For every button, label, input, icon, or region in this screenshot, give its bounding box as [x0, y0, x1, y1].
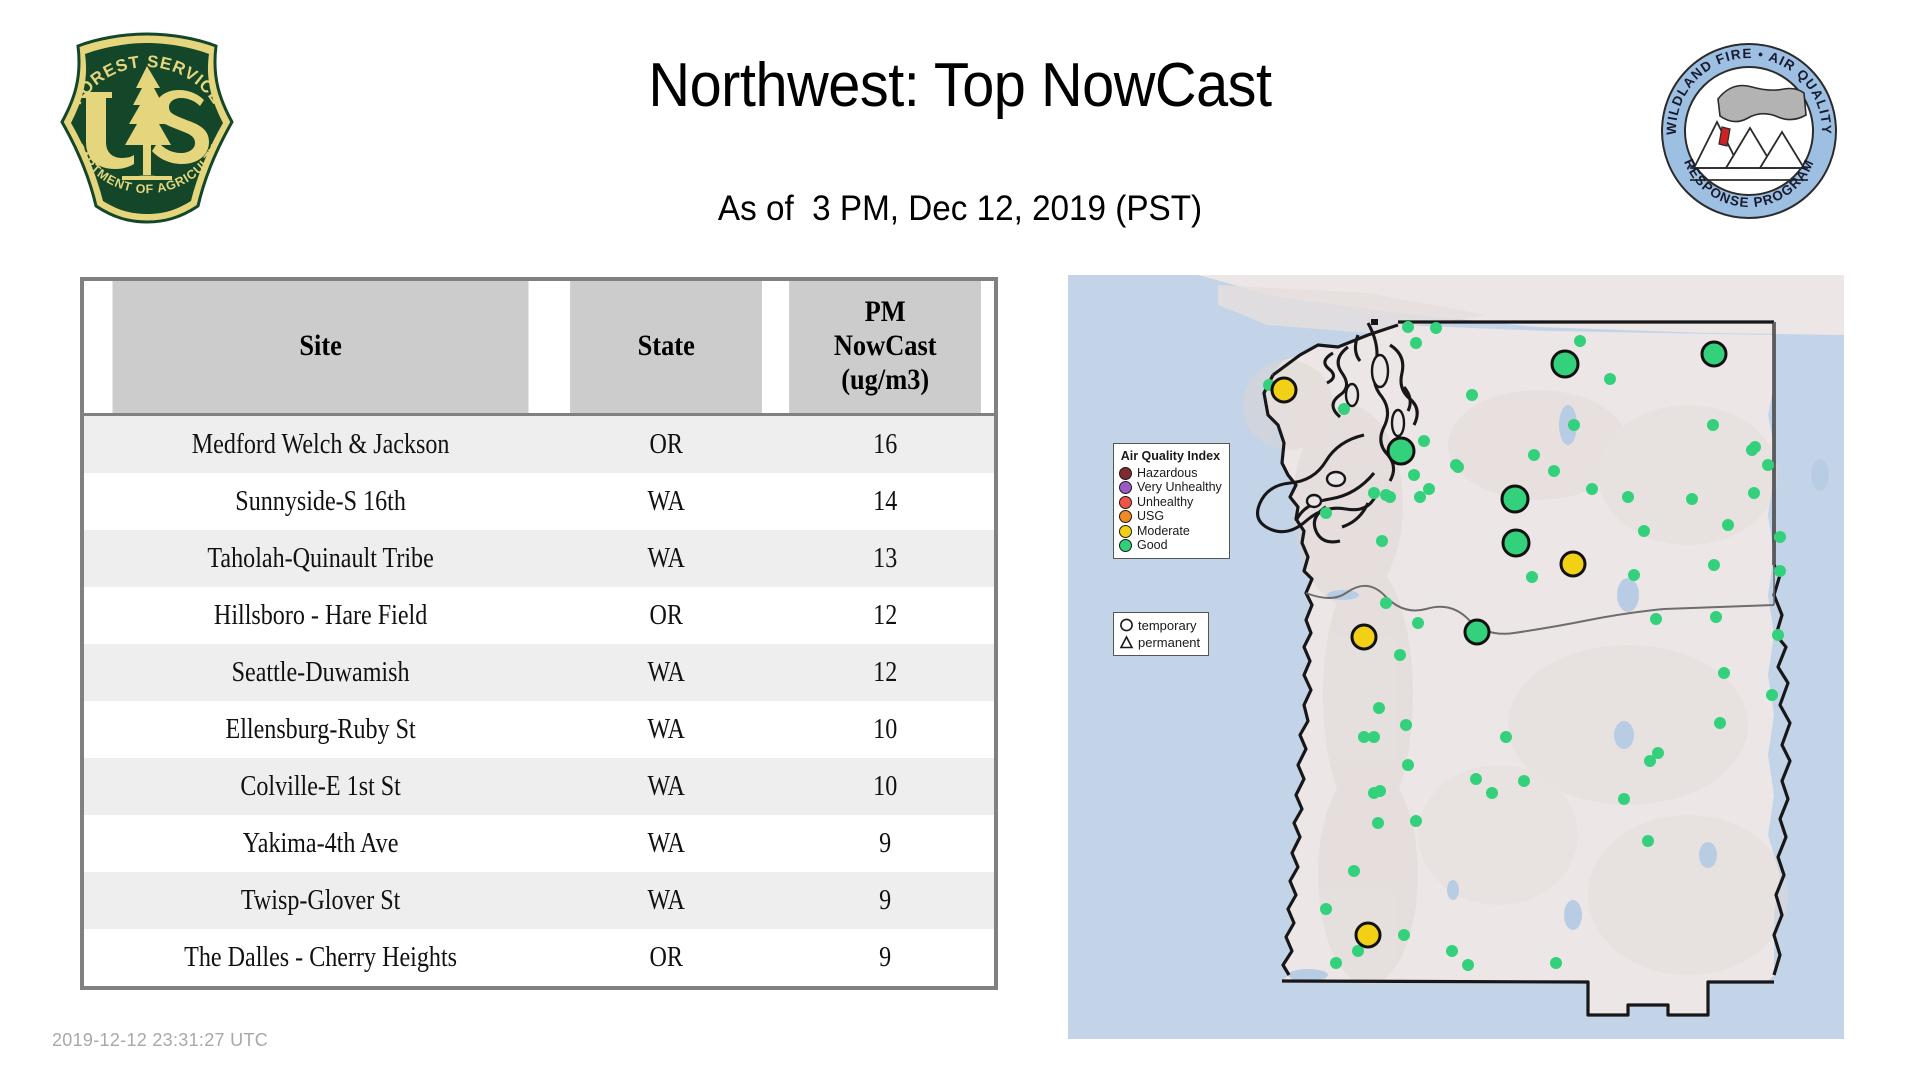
- aqi-color-swatch-icon: [1119, 496, 1132, 509]
- site-legend-row-permanent: permanent: [1118, 634, 1200, 651]
- site-marker-sunnyside-s-16th: [1561, 552, 1585, 576]
- site-legend-label-temporary: temporary: [1138, 619, 1197, 633]
- point-roberts: [1371, 319, 1378, 325]
- state-cell: WA: [572, 473, 760, 530]
- site-cell: Medford Welch & Jackson: [117, 415, 524, 474]
- pm-header-line1: PM: [789, 295, 981, 329]
- table-row[interactable]: The Dalles - Cherry HeightsOR9: [84, 929, 994, 986]
- site-type-legend: temporary permanent: [1113, 612, 1209, 656]
- column-header-pm-nowcast[interactable]: PM NowCast (ug/m3): [789, 281, 981, 415]
- forest-service-shield-icon: FOREST SERVICE DEPARTMENT OF AGRICULTURE: [52, 30, 242, 226]
- state-cell: WA: [572, 530, 760, 587]
- pm-header-line2: NowCast: [789, 329, 981, 363]
- wildland-fire-air-quality-logo: WILDLAND FIRE • AIR QUALITY RESPONSE PRO…: [1660, 42, 1838, 220]
- table-row[interactable]: Colville-E 1st StWA10: [84, 758, 994, 815]
- site-legend-row-temporary: temporary: [1118, 617, 1200, 634]
- table-row[interactable]: Ellensburg-Ruby StWA10: [84, 701, 994, 758]
- nowcast-table: Site State PM NowCast (ug/m3) Medford We…: [84, 281, 994, 986]
- state-cell: OR: [572, 587, 760, 644]
- map-canvas[interactable]: [1068, 275, 1844, 1039]
- aqi-legend-label: Good: [1137, 539, 1168, 552]
- site-cell: Ellensburg-Ruby St: [117, 701, 524, 758]
- aqi-legend-label: Hazardous: [1137, 467, 1197, 480]
- pm-header-line3: (ug/m3): [789, 363, 981, 397]
- site-cell: Hillsboro - Hare Field: [117, 587, 524, 644]
- site-marker-seattle-duwamish: [1388, 438, 1414, 464]
- northwest-aqi-map[interactable]: Air Quality Index HazardousVery Unhealth…: [1068, 275, 1844, 1039]
- aqi-legend-title: Air Quality Index: [1119, 449, 1222, 463]
- site-cell: Colville-E 1st St: [117, 758, 524, 815]
- nowcast-table-container: Site State PM NowCast (ug/m3) Medford We…: [80, 277, 998, 990]
- pm-nowcast-cell: 12: [791, 644, 979, 701]
- site-marker-ellensburg-ruby-st: [1502, 486, 1528, 512]
- aqi-color-swatch-icon: [1119, 467, 1132, 480]
- page-subtitle: As of 3 PM, Dec 12, 2019 (PST): [333, 188, 1587, 230]
- generated-timestamp: 2019-12-12 23:31:27 UTC: [52, 1030, 268, 1051]
- aqi-legend-label: Unhealthy: [1137, 496, 1193, 509]
- site-cell: Yakima-4th Ave: [117, 815, 524, 872]
- aqi-legend-item: Moderate: [1119, 524, 1222, 539]
- permanent-triangle-icon: [1118, 635, 1135, 650]
- aqi-legend-item: USG: [1119, 510, 1222, 525]
- aqi-color-swatch-icon: [1119, 539, 1132, 552]
- column-header-site[interactable]: Site: [112, 281, 528, 415]
- site-marker-colville-e-1st-st: [1702, 342, 1726, 366]
- aqi-legend-item: Good: [1119, 539, 1222, 554]
- state-cell: WA: [572, 815, 760, 872]
- site-cell: Twisp-Glover St: [117, 872, 524, 929]
- state-cell: OR: [572, 929, 760, 986]
- table-header-row: Site State PM NowCast (ug/m3): [84, 281, 994, 415]
- table-row[interactable]: Yakima-4th AveWA9: [84, 815, 994, 872]
- aqi-legend-item: Hazardous: [1119, 466, 1222, 481]
- us-forest-service-logo: FOREST SERVICE DEPARTMENT OF AGRICULTURE: [52, 30, 242, 226]
- pm-nowcast-cell: 9: [791, 815, 979, 872]
- pm-nowcast-cell: 10: [791, 701, 979, 758]
- table-row[interactable]: Taholah-Quinault TribeWA13: [84, 530, 994, 587]
- table-row[interactable]: Hillsboro - Hare FieldOR12: [84, 587, 994, 644]
- aqi-legend-label: Very Unhealthy: [1137, 481, 1222, 494]
- aqi-legend-label: Moderate: [1137, 525, 1190, 538]
- table-row[interactable]: Twisp-Glover StWA9: [84, 872, 994, 929]
- state-cell: OR: [572, 415, 760, 474]
- aqi-color-swatch-icon: [1119, 525, 1132, 538]
- aqi-legend-label: USG: [1137, 510, 1164, 523]
- pm-nowcast-cell: 14: [791, 473, 979, 530]
- site-marker-twisp-glover-st: [1552, 351, 1578, 377]
- state-cell: WA: [572, 872, 760, 929]
- aqi-legend-item: Unhealthy: [1119, 495, 1222, 510]
- site-legend-label-permanent: permanent: [1138, 636, 1200, 650]
- state-cell: WA: [572, 644, 760, 701]
- table-body: Medford Welch & JacksonOR16Sunnyside-S 1…: [84, 415, 994, 987]
- column-header-state[interactable]: State: [570, 281, 762, 415]
- aqi-legend-item: Very Unhealthy: [1119, 481, 1222, 496]
- site-cell: Taholah-Quinault Tribe: [117, 530, 524, 587]
- site-cell: Sunnyside-S 16th: [117, 473, 524, 530]
- table-row[interactable]: Sunnyside-S 16thWA14: [84, 473, 994, 530]
- page-title: Northwest: Top NowCast: [346, 48, 1574, 124]
- aqi-color-swatch-icon: [1119, 481, 1132, 494]
- site-marker-yakima-4th-ave: [1503, 530, 1529, 556]
- site-marker-the-dalles-cherry-heights: [1465, 620, 1489, 644]
- site-marker-medford-welch-jackson: [1356, 923, 1380, 947]
- pm-nowcast-cell: 12: [791, 587, 979, 644]
- pm-nowcast-cell: 9: [791, 872, 979, 929]
- site-marker-taholah-quinault-tribe: [1272, 378, 1296, 402]
- pm-nowcast-cell: 10: [791, 758, 979, 815]
- site-marker-hillsboro-hare-field: [1352, 625, 1376, 649]
- aqi-legend-rows: HazardousVery UnhealthyUnhealthyUSGModer…: [1119, 466, 1222, 553]
- temporary-circle-icon: [1118, 618, 1135, 633]
- site-cell: The Dalles - Cherry Heights: [117, 929, 524, 986]
- pm-nowcast-cell: 16: [791, 415, 979, 474]
- pm-nowcast-cell: 9: [791, 929, 979, 986]
- state-cell: WA: [572, 701, 760, 758]
- aqi-color-swatch-icon: [1119, 510, 1132, 523]
- pm-nowcast-cell: 13: [791, 530, 979, 587]
- aqi-legend: Air Quality Index HazardousVery Unhealth…: [1113, 443, 1230, 559]
- site-cell: Seattle-Duwamish: [117, 644, 524, 701]
- table-row[interactable]: Medford Welch & JacksonOR16: [84, 415, 994, 474]
- table-row[interactable]: Seattle-DuwamishWA12: [84, 644, 994, 701]
- state-cell: WA: [572, 758, 760, 815]
- wfaqrp-seal-icon: WILDLAND FIRE • AIR QUALITY RESPONSE PRO…: [1660, 42, 1838, 220]
